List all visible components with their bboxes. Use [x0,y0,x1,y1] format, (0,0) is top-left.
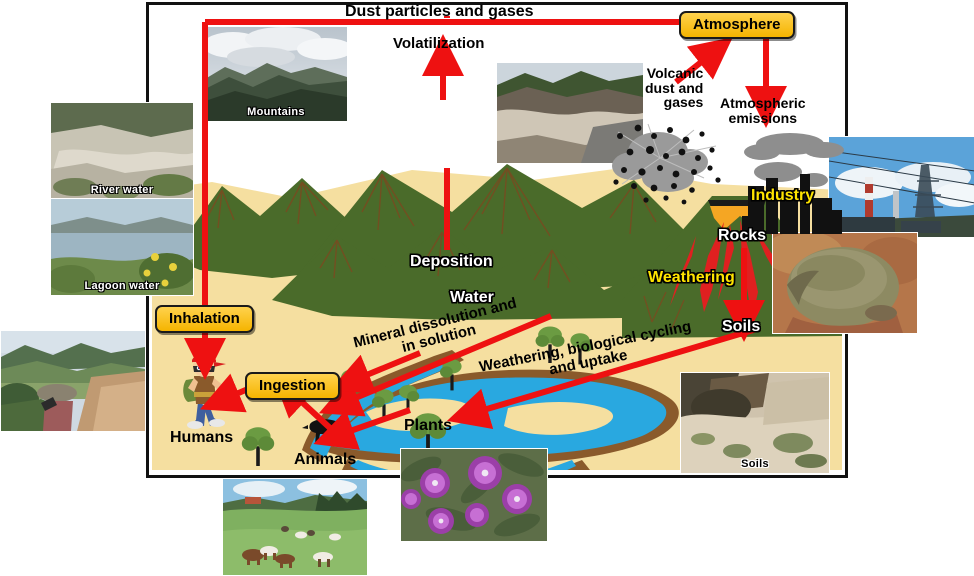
label-plants: Plants [404,418,452,435]
photo-caption: Soils [681,458,829,470]
photo-powerplant [828,136,974,238]
photo-cattle [222,478,368,576]
photo-river-water: River water [50,102,194,200]
label-animals: Animals [294,452,356,469]
photo-soils: Soils [680,372,830,474]
label-volcanic-line1: Volcanic [645,66,703,81]
label-industry: Industry [751,188,814,205]
photo-lagoon-water: Lagoon water [50,198,194,296]
chip-inhalation[interactable]: Inhalation [155,305,254,333]
photo-caption: River water [51,184,193,196]
label-atmospheric-emissions: Atmospheric emissions [720,96,806,125]
photo-flowers [400,448,548,542]
label-volcanic-line2: dust and [645,81,703,96]
photo-caption: Mountains [205,106,347,118]
label-volatilization: Volatilization [393,36,484,52]
volcanic-plume-illustration [608,122,728,212]
photo-mountains: Mountains [204,26,348,122]
human-figure [180,348,234,430]
label-deposition: Deposition [410,254,493,271]
photo-caption: Lagoon water [51,280,193,292]
label-dust-particles: Dust particles and gases [345,4,534,21]
label-soils: Soils [722,319,760,336]
label-volcanic-dust-gases: Volcanic dust and gases [645,66,703,110]
chip-atmosphere[interactable]: Atmosphere [679,11,795,39]
label-emissions-line2: emissions [720,111,806,126]
animal-figure [300,410,352,446]
photo-fieldwork [0,330,146,432]
chip-ingestion[interactable]: Ingestion [245,372,340,400]
label-weathering: Weathering [648,270,735,287]
label-volcanic-line3: gases [645,95,703,110]
industry-silhouette [742,130,846,240]
photo-rock-boulder [772,232,918,334]
label-emissions-line1: Atmospheric [720,96,806,111]
label-rocks: Rocks [718,228,766,245]
label-humans: Humans [170,430,233,447]
